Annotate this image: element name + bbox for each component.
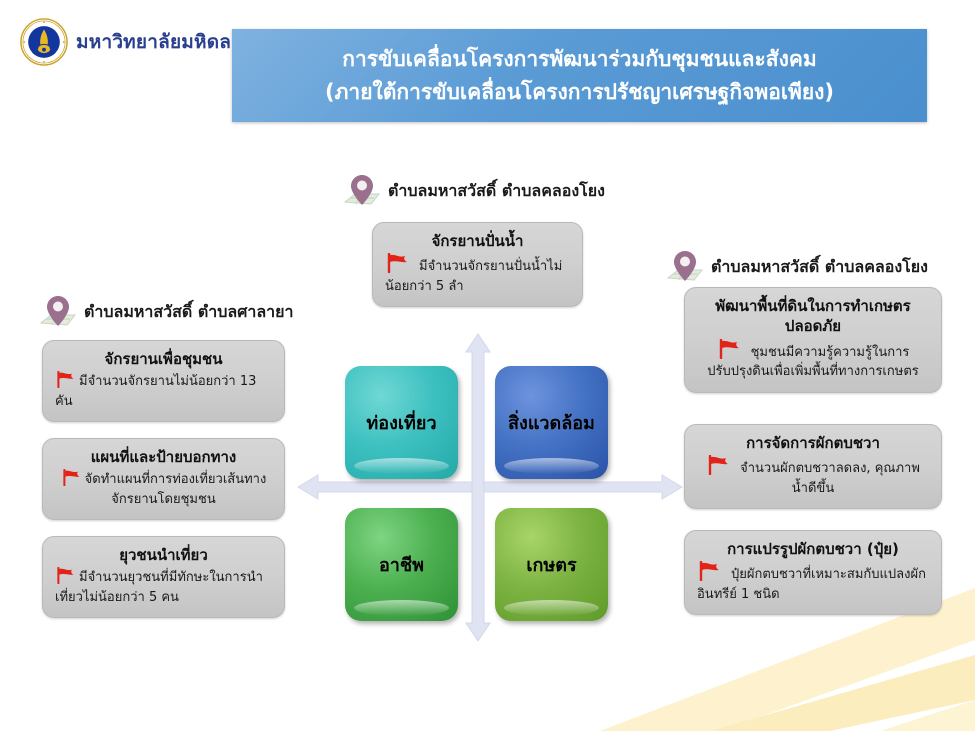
card-title: พัฒนาพื้นที่ดินในการทำเกษตรปลอดภัย (697, 296, 929, 337)
card-body: มีจำนวนยุวชนที่มีทักษะในการนำเที่ยวไม่น้… (55, 567, 272, 607)
card-body: จำนวนผักตบชวาลดลง, คุณภาพน้ำดีขึ้น (697, 455, 929, 498)
red-flag-icon (706, 455, 732, 475)
card-safe-farm[interactable]: พัฒนาพื้นที่ดินในการทำเกษตรปลอดภัย ชุมชน… (684, 287, 942, 393)
card-body-text: มีจำนวนยุวชนที่มีทักษะในการนำเที่ยวไม่น้… (55, 570, 263, 605)
location-header-top: ตำบลมหาสวัสดิ์ ตำบลคลองโยง (342, 172, 605, 210)
card-title: จักรยานเพื่อชุมชน (55, 349, 272, 369)
card-bike-community[interactable]: จักรยานเพื่อชุมชน มีจำนวนจักรยานไม่น้อยก… (42, 340, 285, 422)
card-body-text: มีจำนวนจักรยานไม่น้อยกว่า 13 คัน (55, 374, 256, 409)
red-flag-icon (55, 567, 77, 584)
quadrant-box-environment[interactable]: สิ่งแวดล้อม (495, 366, 608, 479)
strategy-quadrant: ท่องเที่ยว สิ่งแวดล้อม อาชีพ เกษตร (290, 330, 690, 645)
card-fertilizer[interactable]: การแปรรูปผักตบชวา (ปุ๋ย) ปุ๋ยผักตบชวาที่… (684, 530, 942, 615)
card-title: การจัดการผักตบชวา (697, 433, 929, 453)
quadrant-label: อาชีพ (379, 550, 424, 579)
card-body: มีจำนวนจักรยานปั่นน้ำไม่น้อยกว่า 5 ลำ (385, 253, 570, 296)
card-body-text: จำนวนผักตบชวาลดลง, คุณภาพน้ำดีขึ้น (740, 461, 920, 496)
map-pin-icon (38, 293, 78, 331)
quadrant-box-tourism[interactable]: ท่องเที่ยว (345, 366, 458, 479)
quadrant-box-occupation[interactable]: อาชีพ (345, 508, 458, 621)
map-pin-icon (665, 248, 705, 286)
slide-title-line-1: การขับเคลื่อนโครงการพัฒนาร่วมกับชุมชนและ… (342, 43, 816, 76)
card-body-text: ปุ๋ยผักตบชวาที่เหมาะสมกับแปลงผักอินทรีย์… (697, 567, 926, 602)
logo-text: มหาวิทยาลัยมหิดล (76, 27, 231, 57)
card-body: ปุ๋ยผักตบชวาที่เหมาะสมกับแปลงผักอินทรีย์… (697, 561, 929, 604)
red-flag-icon (697, 561, 723, 581)
location-label: ตำบลมหาสวัสดิ์ ตำบลศาลายา (84, 300, 294, 325)
red-flag-icon (385, 253, 411, 273)
card-body-text: จัดทำแผนที่การท่องเที่ยวเส้นทางจักรยานโด… (85, 472, 267, 507)
red-flag-icon (717, 339, 743, 359)
card-map-signs[interactable]: แผนที่และป้ายบอกทาง จัดทำแผนที่การท่องเท… (42, 438, 285, 520)
location-header-left: ตำบลมหาสวัสดิ์ ตำบลศาลายา (38, 293, 294, 331)
university-logo: มหาวิทยาลัยมหิดล (20, 14, 220, 70)
card-body: จัดทำแผนที่การท่องเที่ยวเส้นทางจักรยานโด… (55, 469, 272, 509)
quadrant-box-agriculture[interactable]: เกษตร (495, 508, 608, 621)
card-title: แผนที่และป้ายบอกทาง (55, 447, 272, 467)
card-title: ยุวชนนำเที่ยว (55, 545, 272, 565)
card-title: จักรยานปั่นน้ำ (385, 231, 570, 251)
quadrant-label: สิ่งแวดล้อม (508, 408, 595, 437)
location-label: ตำบลมหาสวัสดิ์ ตำบลคลองโยง (388, 179, 605, 204)
card-body: ชุมชนมีความรู้ความรู้ในการปรับปรุงดินเพื… (697, 339, 929, 382)
card-body: มีจำนวนจักรยานไม่น้อยกว่า 13 คัน (55, 371, 272, 411)
card-youth-guide[interactable]: ยุวชนนำเที่ยว มีจำนวนยุวชนที่มีทักษะในกา… (42, 536, 285, 618)
card-water-hyacinth[interactable]: การจัดการผักตบชวา จำนวนผักตบชวาลดลง, คุณ… (684, 424, 942, 509)
map-pin-icon (342, 172, 382, 210)
slide-title-banner: การขับเคลื่อนโครงการพัฒนาร่วมกับชุมชนและ… (232, 29, 927, 122)
location-label: ตำบลมหาสวัสดิ์ ตำบลคลองโยง (711, 255, 928, 280)
card-water-bike[interactable]: จักรยานปั่นน้ำ มีจำนวนจักรยานปั่นน้ำไม่น… (372, 222, 583, 307)
card-title: การแปรรูปผักตบชวา (ปุ๋ย) (697, 539, 929, 559)
quadrant-label: เกษตร (526, 550, 576, 579)
red-flag-icon (55, 371, 77, 388)
red-flag-icon (61, 469, 83, 486)
location-header-right: ตำบลมหาสวัสดิ์ ตำบลคลองโยง (665, 248, 928, 286)
slide-title-line-2: (ภายใต้การขับเคลื่อนโครงการปรัชญาเศรษฐกิ… (325, 76, 834, 109)
quadrant-label: ท่องเที่ยว (366, 408, 436, 437)
card-body-text: มีจำนวนจักรยานปั่นน้ำไม่น้อยกว่า 5 ลำ (385, 259, 562, 294)
mahidol-university-seal-icon (20, 18, 68, 66)
